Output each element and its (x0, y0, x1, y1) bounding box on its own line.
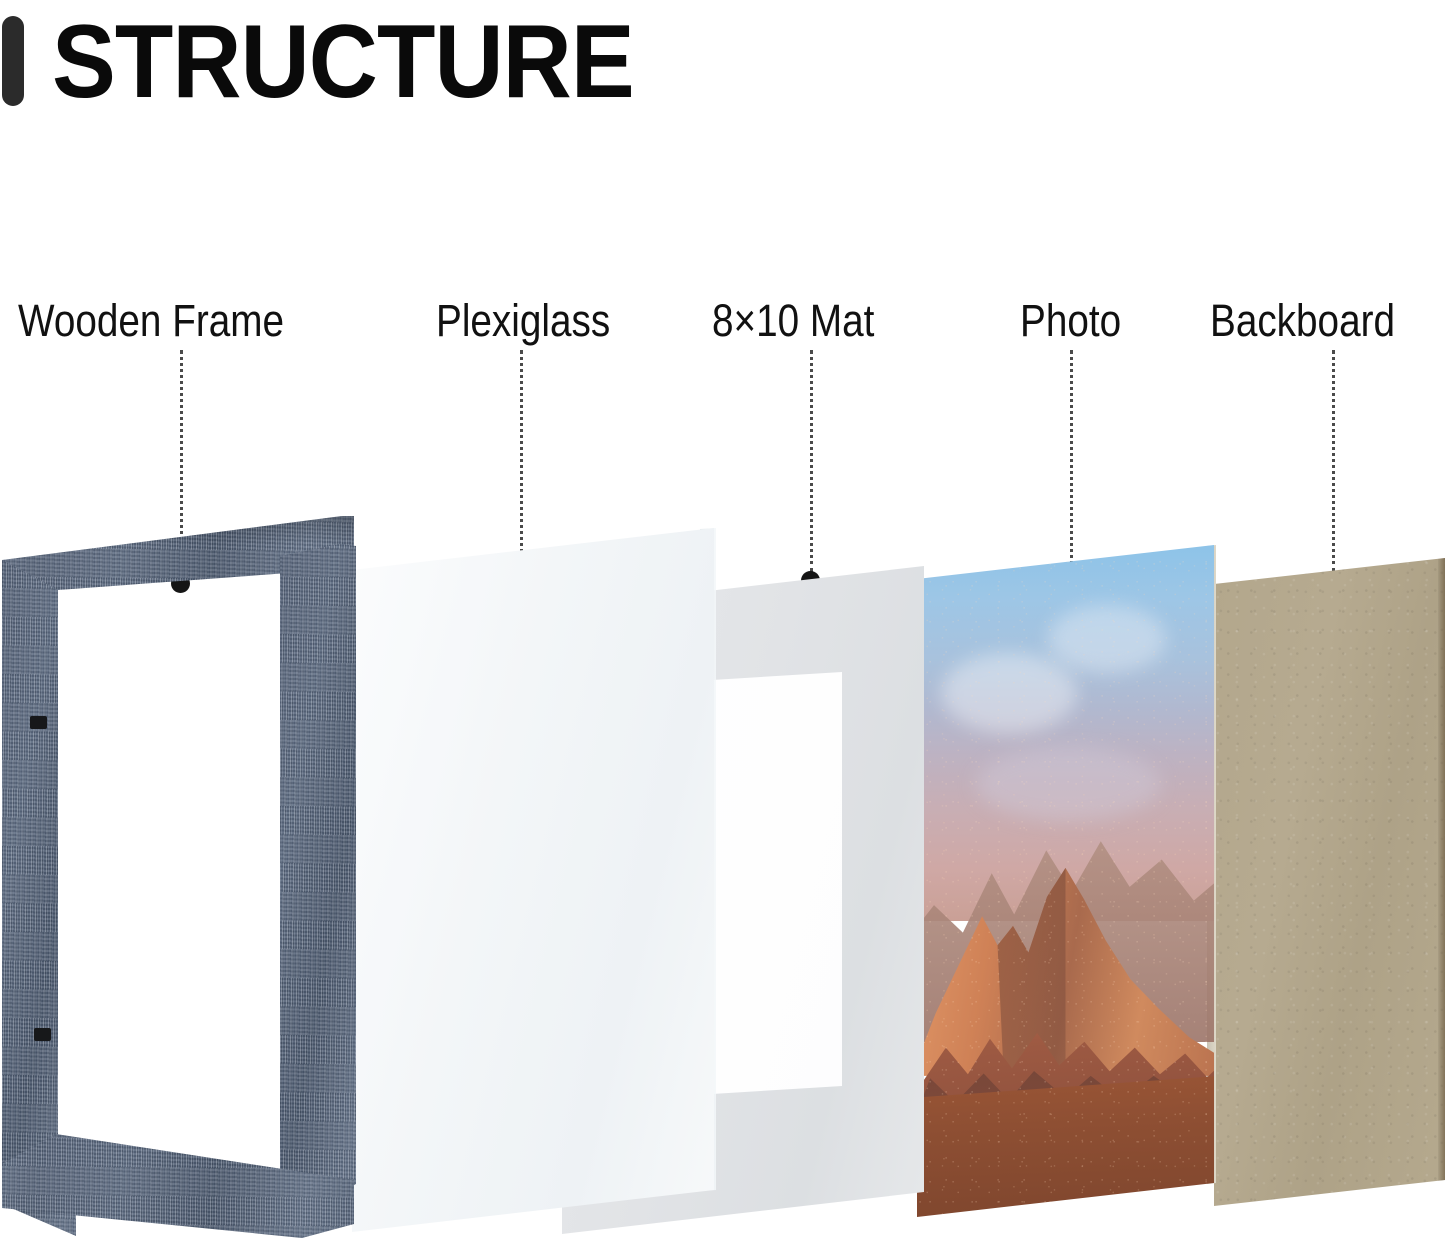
layer-backboard (1214, 558, 1445, 1206)
frame-clip-lower (34, 1028, 51, 1041)
layer-photo (917, 545, 1214, 1217)
wood-grain-texture (280, 516, 356, 1216)
frame-clip-upper (30, 716, 47, 729)
photo-ground-texture (917, 545, 1214, 1217)
wood-grain-texture (2, 556, 76, 1236)
frame-rail-right (280, 516, 356, 1216)
frame-rail-left (2, 556, 76, 1236)
photo-image (917, 545, 1214, 1217)
backboard-surface (1214, 558, 1445, 1206)
backboard-edge (1438, 558, 1445, 1206)
layer-plexiglass (352, 528, 714, 1232)
exploded-frame-diagram (0, 0, 1445, 1259)
layer-wooden-frame (2, 516, 354, 1238)
